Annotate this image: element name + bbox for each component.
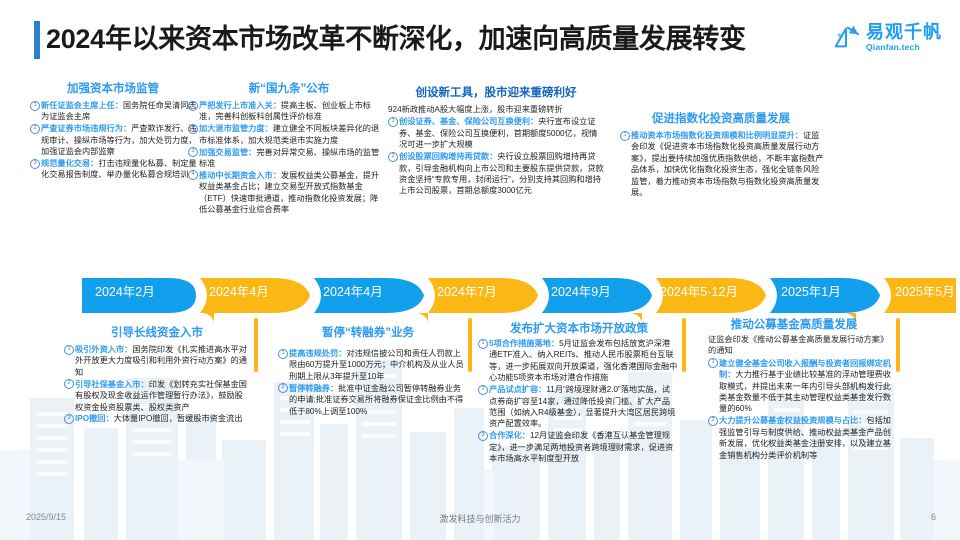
top-col-2-heading: 创设新工具，股市迎来重磅利好 <box>386 86 606 100</box>
bottom-col-0-heading: 引导长线资金入市 <box>64 326 250 340</box>
top-col-3-body: 推动资本市场指数化投资规模和比例明显提升：证监会印发《促进资本市场指数化投资高质… <box>620 130 826 199</box>
footer-page-number: 6 <box>931 512 936 522</box>
timeline-label-5[interactable]: 2024年5-12月 <box>660 277 738 308</box>
bottom-col-1-heading: 暂停“转融券”业务 <box>272 326 464 340</box>
footer-center-text: 激发科技与创新活力 <box>0 512 960 525</box>
list-item: IPO撤回：大体量IPO撤回，暂缓股市资金流出 <box>64 413 250 424</box>
bottom-col-3-heading: 推动公募基金高质量发展 <box>692 318 896 332</box>
list-item: 提高违规处罚：对违规信披公司和责任人罚款上限由60万提升至1000万元；中介机构… <box>278 348 464 382</box>
list-item: 加强交易监管：完善对异常交易、操纵市场的监管标准 <box>188 147 382 170</box>
top-col-1-heading: 新“国九条”公布 <box>196 82 382 96</box>
list-item: 推动中长期资金入市：发展权益类公募基金，提升权益类基金占比；建立交易型开放式指数… <box>188 170 382 216</box>
bottom-col-3-lead: 证监会印发《推动公募基金高质量发展行动方案》的通知 <box>708 334 894 357</box>
top-col-0-heading: 加强资本市场监管 <box>30 82 196 96</box>
timeline-label-7[interactable]: 2025年5月 <box>895 277 955 308</box>
logo-name: 易观千帆 <box>866 23 942 41</box>
list-item: 引导社保基金入市：印发《划转充实社保基金国有股权及现金收益运作管理暂行办法》，鼓… <box>64 379 250 413</box>
top-col-2-lead: 924新政推动A股大幅度上涨，股市迎来重磅转折 <box>388 104 604 115</box>
section-divider-1 <box>254 318 258 372</box>
bottom-col-1-body: 提高违规处罚：对违规信披公司和责任人罚款上限由60万提升至1000万元；中介机构… <box>278 348 464 417</box>
title-accent-bar <box>34 21 40 59</box>
timeline-label-3[interactable]: 2024年7月 <box>437 277 497 308</box>
top-col-2-body: 924新政推动A股大幅度上涨，股市迎来重磅转折 创设证券、基金、保险公司互换便利… <box>388 104 604 197</box>
list-item: 合作深化：12月证监会印发《香港互认基金管理规定》，进一步满足两地投资者跨境理财… <box>478 430 678 464</box>
list-item: 创设证券、基金、保险公司互换便利：央行宣布设立证券、基金、保险公司互换便利，首期… <box>388 116 604 150</box>
list-item: 暂停转融券：批准中证金融公司暂停转融券业务的申请;批准证券交易所将融券保证金比例… <box>278 383 464 417</box>
list-item: 吸引外资入市：国务院印发《扎实推进高水平对外开放更大力度吸引和利用外资行动方案》… <box>64 344 250 378</box>
list-item: 严把发行上市准入关：提高主板、创业板上市标准，完善科创板科创属性评价标准 <box>188 100 382 123</box>
timeline-label-2[interactable]: 2024年4月 <box>323 277 383 308</box>
bottom-col-2-body: 5项合作措施落地：5月证监会发布包括放宽沪深港通ETF准入、纳入REITs、推动… <box>478 338 678 465</box>
logo-tagline: Qianfan.tech <box>866 43 942 52</box>
section-divider-4 <box>896 318 900 372</box>
list-item: 大力提升公募基金权益投资规模与占比：包括加强监管引导与制度供给、推动权益类基金产… <box>708 415 894 461</box>
page-title: 2024年以来资本市场改革不断深化，加速向高质量发展转变 <box>46 18 746 60</box>
list-item: 加大退市监管力度：建立健全不同板块差异化的退市标准体系，加大规范类退市实施力度 <box>188 123 382 146</box>
list-item: 推动资本市场指数化投资规模和比例明显提升：证监会印发《促进资本市场指数化投资高质… <box>620 130 826 198</box>
timeline-label-1[interactable]: 2024年4月 <box>209 277 269 308</box>
section-divider-3 <box>682 318 686 372</box>
sailboat-logo-icon <box>831 22 861 52</box>
top-col-1-body: 严把发行上市准入关：提高主板、创业板上市标准，完善科创板科创属性评价标准 加大退… <box>188 100 382 216</box>
list-item: 产品试点扩容：11月“跨境理财通2.0”落地实施，试点券商扩容至14家，通过降低… <box>478 384 678 430</box>
timeline-label-0[interactable]: 2024年2月 <box>95 277 155 308</box>
timeline-label-4[interactable]: 2024年9月 <box>551 277 611 308</box>
list-item: 5项合作措施落地：5月证监会发布包括放宽沪深港通ETF准入、纳入REITs、推动… <box>478 338 678 384</box>
bottom-col-2-heading: 发布扩大资本市场开放政策 <box>480 322 678 336</box>
bottom-col-3-body: 证监会印发《推动公募基金高质量发展行动方案》的通知 建立健全基金公司收入报酬与投… <box>708 334 894 461</box>
list-item: 严查证券市场违规行为：严查欺诈发行、违规审计、操纵市场等行为，加大处罚力度，加强… <box>30 123 198 157</box>
top-col-3-heading: 促进指数化投资高质量发展 <box>618 112 824 126</box>
slide-header: 2024年以来资本市场改革不断深化，加速向高质量发展转变 易观千帆 Qianfa… <box>0 18 960 70</box>
logo-text-block: 易观千帆 Qianfan.tech <box>866 23 942 52</box>
list-item: 新任证监会主席上任：国务院任命吴清同志为证监会主席 <box>30 100 198 123</box>
list-item: 创设股票回购增持再贷款：央行设立股票回购增持再贷款，引导金融机构向上市公司和主要… <box>388 151 604 197</box>
list-item: 建立健全基金公司收入报酬与投资者回报绑定机制：大力推行基于业绩比较基准的浮动管理… <box>708 358 894 415</box>
top-col-0-body: 新任证监会主席上任：国务院任命吴清同志为证监会主席 严查证券市场违规行为：严查欺… <box>30 100 198 181</box>
list-item: 规范量化交易：打击违规量化私募、制定量化交易报告制度、举办量化私募合规培训 <box>30 158 198 181</box>
brand-logo: 易观千帆 Qianfan.tech <box>831 22 942 52</box>
section-divider-2 <box>468 318 472 372</box>
bottom-col-0-body: 吸引外资入市：国务院印发《扎实推进高水平对外开放更大力度吸引和利用外资行动方案》… <box>64 344 250 425</box>
slide-root: 2024年以来资本市场改革不断深化，加速向高质量发展转变 易观千帆 Qianfa… <box>0 0 960 540</box>
timeline-label-6[interactable]: 2025年1月 <box>781 277 841 308</box>
